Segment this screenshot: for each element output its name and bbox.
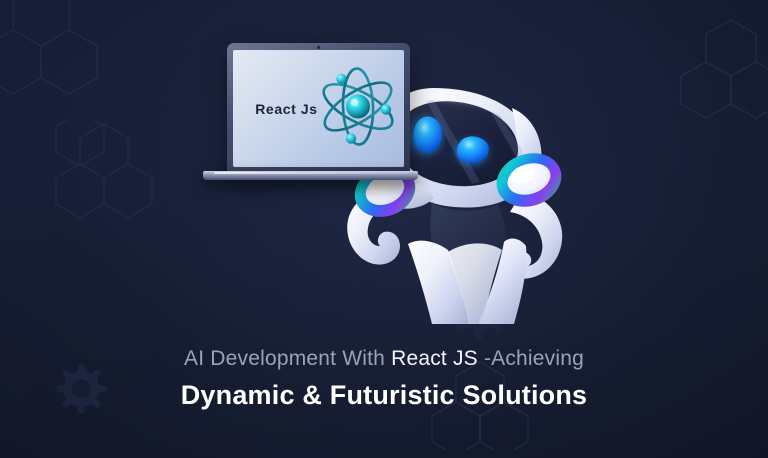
headline-line-1: AI Development With React JS -Achieving bbox=[0, 344, 768, 374]
screen-label-react-js: React Js bbox=[255, 101, 317, 117]
laptop: React Js bbox=[203, 43, 418, 188]
atom-icon bbox=[316, 63, 400, 154]
headline-part-2: Achieving bbox=[491, 347, 584, 370]
headline-block: AI Development With React JS -Achieving … bbox=[0, 344, 768, 414]
headline-dash: - bbox=[478, 347, 491, 370]
hex-top-left-decoration bbox=[0, 0, 116, 108]
hex-left-decoration bbox=[52, 120, 162, 230]
headline-line-2: Dynamic & Futuristic Solutions bbox=[0, 376, 768, 414]
hero-banner: React Js bbox=[0, 0, 768, 458]
laptop-base bbox=[203, 171, 418, 180]
laptop-screen: React Js bbox=[233, 50, 404, 167]
headline-part-1: AI Development With bbox=[184, 347, 391, 370]
webcam-dot-icon bbox=[317, 46, 320, 49]
hex-top-right-decoration bbox=[676, 14, 768, 134]
headline-highlight-react-js: React JS bbox=[391, 347, 478, 370]
laptop-lid: React Js bbox=[227, 43, 410, 173]
